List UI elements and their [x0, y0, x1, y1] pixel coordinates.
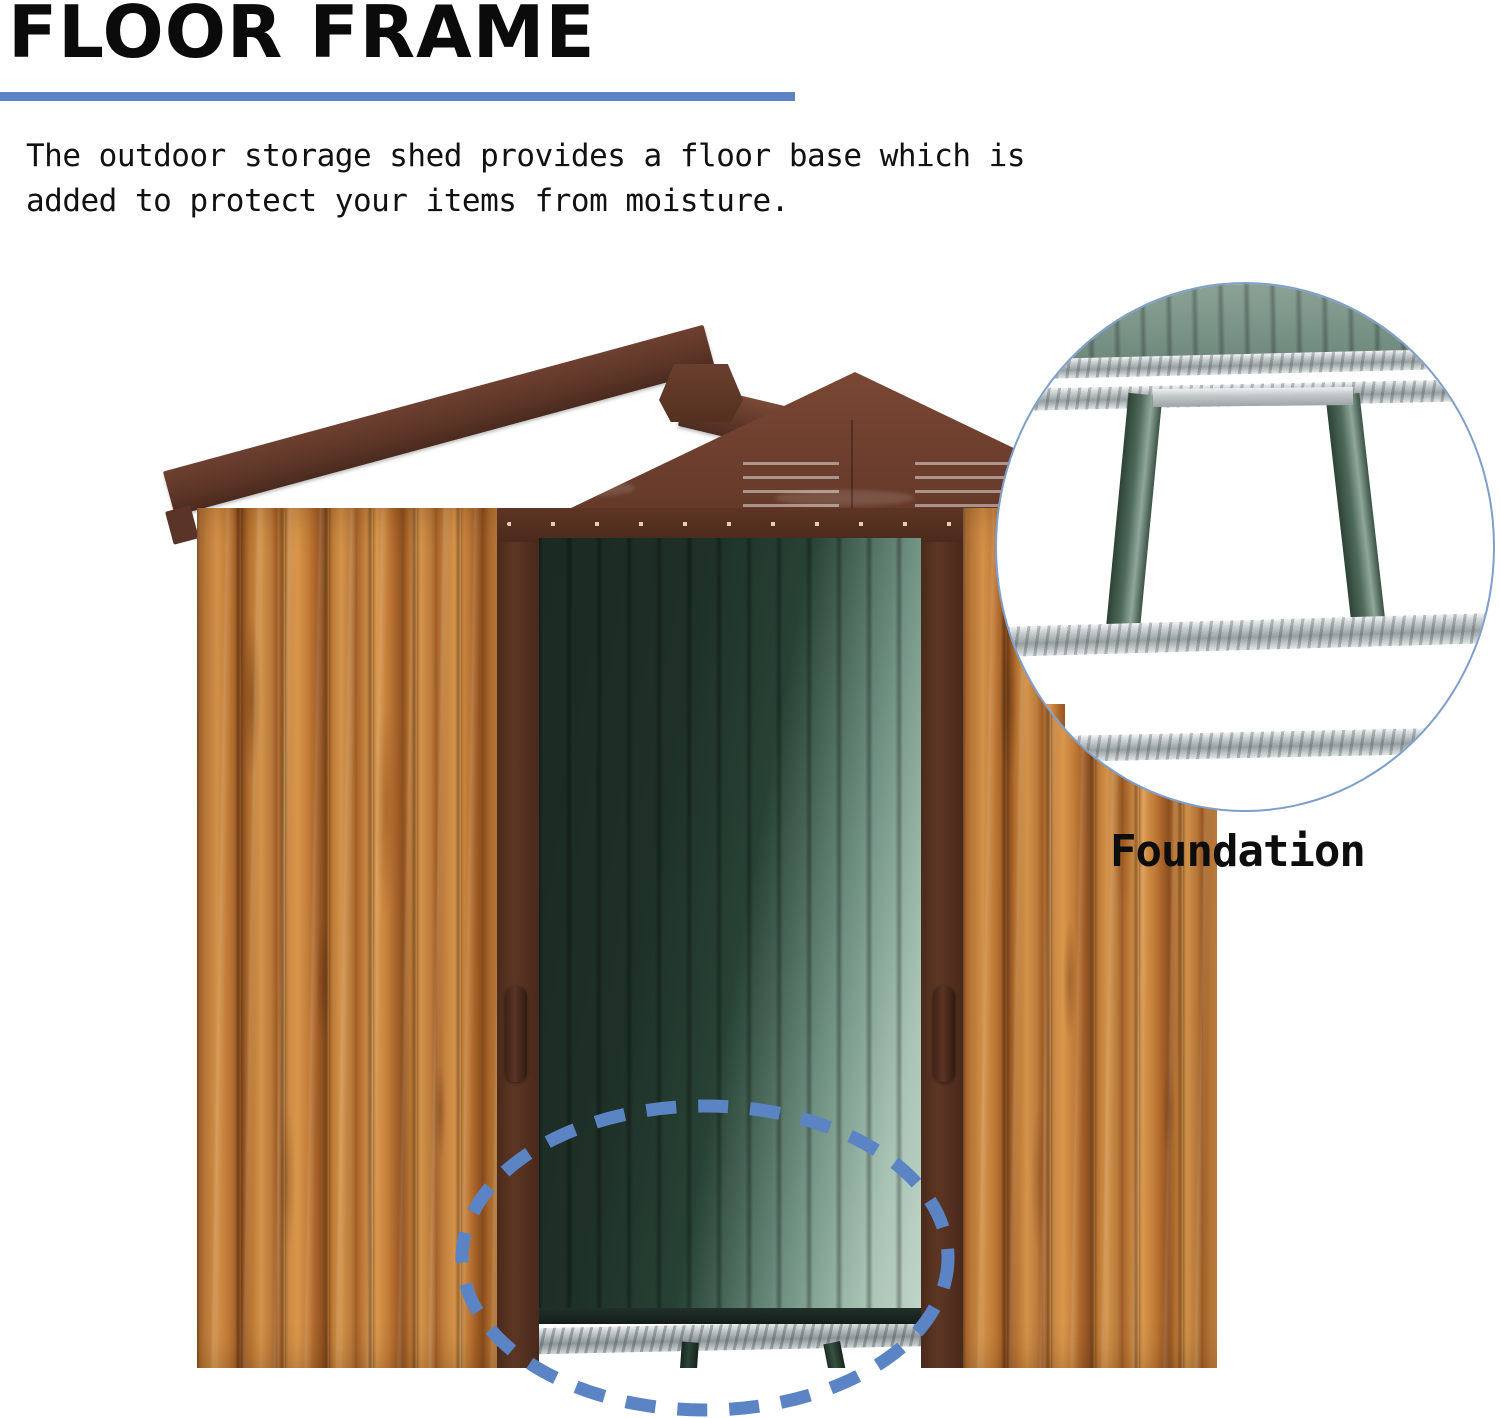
- description-line-1: The outdoor storage shed provides a floo…: [26, 134, 926, 179]
- inset-wood-edge: [995, 704, 1065, 812]
- inset-crossbar: [1153, 387, 1353, 407]
- gable-scuff-left: [545, 480, 635, 496]
- inset-strut-right: [1326, 393, 1387, 635]
- rivet-row: [507, 522, 953, 526]
- wood-grain-texture-left: [197, 508, 497, 1368]
- inset-strut-left: [1106, 393, 1163, 635]
- door-handle-left: [505, 986, 527, 1082]
- siding-panel-left: [197, 508, 497, 1368]
- foundation-label: Foundation: [1110, 826, 1365, 877]
- floor-frame-highlight-ellipse: [455, 1098, 955, 1418]
- title-divider: [0, 92, 795, 101]
- door-handle-right: [933, 986, 955, 1082]
- inset-rail-third: [995, 612, 1495, 657]
- inset-rail-bottom: [995, 726, 1495, 763]
- description-text: The outdoor storage shed provides a floo…: [26, 134, 926, 224]
- roof-eave-cap: [165, 505, 199, 545]
- description-line-2: added to protect your items from moistur…: [26, 179, 926, 224]
- page-title: FLOOR FRAME: [8, 0, 596, 68]
- foundation-magnified-inset: [995, 282, 1495, 812]
- roof-ridge-cap: [659, 364, 743, 422]
- door-header-band: [497, 508, 963, 542]
